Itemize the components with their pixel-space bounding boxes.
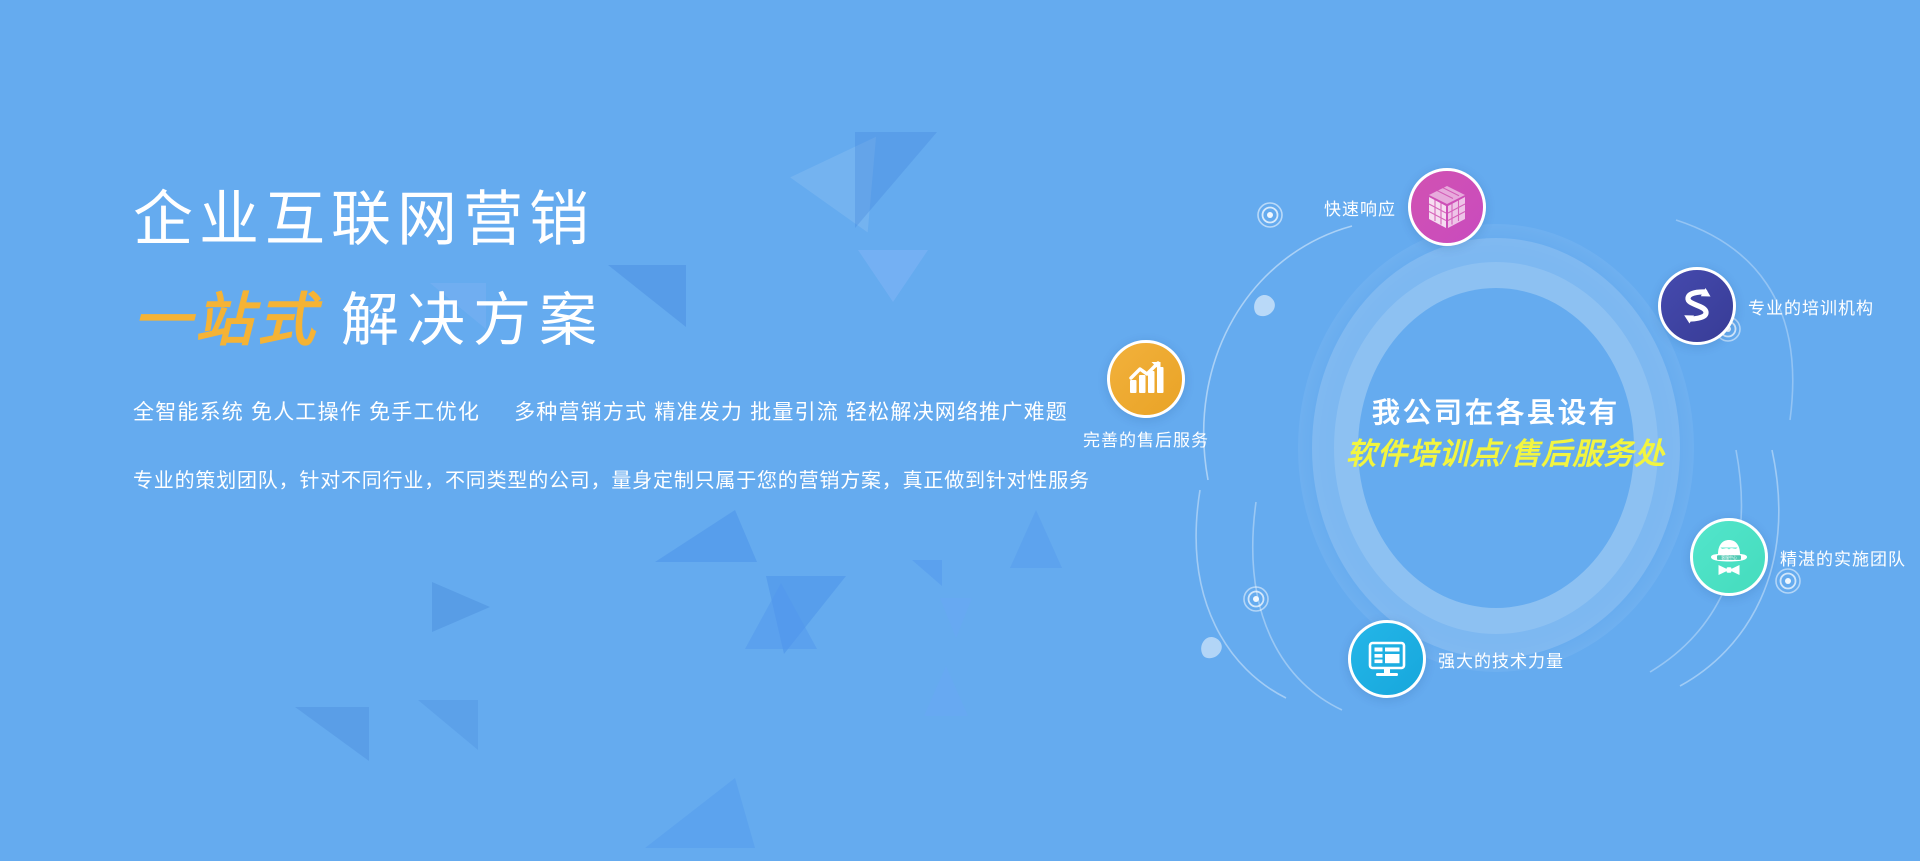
pin-icon	[1200, 636, 1222, 660]
diagram-center-text: 我公司在各县设有 软件培训点/售后服务处	[1346, 395, 1646, 475]
pin-icon	[1253, 294, 1275, 318]
decor-triangle	[924, 666, 968, 716]
node-training-institution[interactable]: 专业的培训机构	[1658, 267, 1874, 345]
node-label-implementation-team: 精湛的实施团队	[1780, 545, 1906, 570]
page-title: 企业互联网营销	[133, 190, 1053, 250]
node-implementation-team[interactable]: 客服中心 精湛的实施团队	[1690, 518, 1906, 596]
hero-feature-line: 全智能系统 免人工操作 免手工优化多种营销方式 精准发力 批量引流 轻松解决网络…	[133, 396, 1053, 426]
node-label-fast-response: 快速响应	[1324, 195, 1396, 220]
node-fast-response[interactable]: 快速响应	[1066, 168, 1486, 246]
hero-feature-a: 全智能系统 免人工操作 免手工优化	[133, 401, 480, 424]
hero-subhead-plain: 解决方案	[341, 288, 605, 353]
monitor-icon	[1348, 620, 1426, 698]
hero-subhead-highlight: 一站式	[133, 288, 341, 353]
decor-triangle	[912, 560, 942, 586]
center-line-1: 我公司在各县设有	[1346, 395, 1646, 434]
cube-icon	[1408, 168, 1486, 246]
decor-triangle	[745, 583, 817, 649]
decor-triangle	[418, 700, 478, 750]
hero-subhead: 一站式解决方案	[133, 292, 1053, 350]
decor-triangle	[655, 510, 757, 562]
decor-triangle	[766, 576, 846, 654]
hero-description: 专业的策划团队，针对不同行业，不同类型的公司，量身定制只属于您的营销方案，真正做…	[133, 464, 1053, 493]
hat-badge-text: 客服中心	[1721, 555, 1737, 560]
decor-triangle	[940, 598, 972, 638]
decor-triangle	[295, 707, 369, 761]
node-label-after-sales-service: 完善的售后服务	[1083, 426, 1209, 451]
node-after-sales-service[interactable]: 完善的售后服务	[1083, 340, 1209, 451]
circular-diagram: 我公司在各县设有 软件培训点/售后服务处	[1090, 150, 1890, 730]
node-technical-strength[interactable]: 强大的技术力量	[1348, 620, 1564, 698]
decor-triangle	[432, 582, 490, 632]
s-arrow-icon	[1658, 267, 1736, 345]
hero-text-block: 企业互联网营销 一站式解决方案 全智能系统 免人工操作 免手工优化多种营销方式 …	[133, 190, 1053, 493]
hat-bowtie-icon: 客服中心	[1690, 518, 1768, 596]
node-label-training-institution: 专业的培训机构	[1748, 294, 1874, 319]
marketing-banner: 企业互联网营销 一站式解决方案 全智能系统 免人工操作 免手工优化多种营销方式 …	[0, 0, 1920, 861]
bar-chart-arrow-icon	[1107, 340, 1185, 418]
decor-triangle	[1010, 510, 1062, 568]
decor-triangle	[645, 778, 755, 848]
center-line-2: 软件培训点/售后服务处	[1346, 434, 1646, 475]
hero-feature-b: 多种营销方式 精准发力 批量引流 轻松解决网络推广难题	[514, 401, 1068, 424]
bullseye-icon	[1242, 585, 1270, 613]
node-label-technical-strength: 强大的技术力量	[1438, 647, 1564, 672]
